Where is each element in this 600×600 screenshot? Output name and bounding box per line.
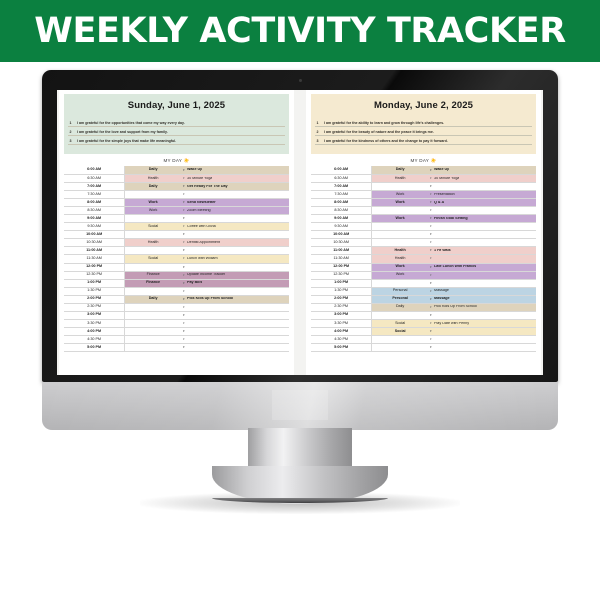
chevron-down-icon[interactable]: ▾ [430, 201, 432, 204]
category-cell[interactable]: Finance [125, 279, 181, 287]
category-cell[interactable]: Daily [125, 183, 181, 191]
time-slot-label: 5:00 PM [64, 343, 125, 351]
chevron-down-icon[interactable]: ▾ [183, 330, 185, 333]
table-row[interactable]: 6:00 AMDaily▾Wake Up [311, 166, 536, 174]
activity-text: Late Lunch with Francis [434, 265, 476, 269]
activity-cell[interactable]: ▾ [428, 335, 536, 343]
time-slot-label: 6:30 AM [311, 175, 372, 183]
table-row[interactable]: 4:00 PM▾ [64, 327, 289, 335]
category-cell[interactable]: Social [125, 223, 181, 231]
table-row[interactable]: 12:00 PMWork▾Late Lunch with Francis [311, 263, 536, 271]
banner-title: WEEKLY ACTIVITY TRACKER [34, 11, 566, 51]
chevron-down-icon[interactable]: ▾ [430, 257, 432, 260]
gratitude-number: 2 [315, 130, 320, 134]
activity-text: Pay Bills [187, 281, 202, 285]
time-slot-label: 9:00 AM [311, 215, 372, 223]
category-cell[interactable] [372, 279, 428, 287]
time-slot-label: 2:30 PM [64, 303, 125, 311]
time-slot-label: 8:00 AM [64, 199, 125, 207]
table-row[interactable]: 2:00 PMPersonal▾Massage [311, 295, 536, 303]
chevron-down-icon[interactable]: ▾ [430, 306, 432, 309]
time-slot-label: 11:30 AM [64, 255, 125, 263]
chevron-down-icon[interactable]: ▾ [430, 225, 432, 228]
activity-cell[interactable]: ▾Update Income Tracker [181, 271, 289, 279]
category-cell[interactable] [125, 215, 181, 223]
time-slot-label: 6:00 AM [311, 166, 372, 174]
chevron-down-icon[interactable]: ▾ [430, 330, 432, 333]
activity-cell[interactable]: ▾1 Hr Walk [428, 247, 536, 255]
time-slot-label: 9:30 AM [311, 223, 372, 231]
time-slot-label: 12:00 PM [64, 263, 125, 271]
chevron-down-icon[interactable]: ▾ [430, 265, 432, 268]
activity-text: Pick Kids Up From School [187, 297, 233, 301]
chevron-down-icon[interactable]: ▾ [183, 169, 185, 172]
time-slot-label: 9:00 AM [64, 215, 125, 223]
page-banner: WEEKLY ACTIVITY TRACKER [0, 0, 600, 62]
category-cell[interactable]: Work [372, 191, 428, 199]
gratitude-entry[interactable]: 3I am grateful for the simple joys that … [68, 139, 285, 145]
gratitude-text[interactable]: I am grateful for the kindness of others… [324, 139, 448, 143]
time-slot-label: 7:00 AM [311, 183, 372, 191]
table-row[interactable]: 11:00 AMHealth▾1 Hr Walk [311, 247, 536, 255]
category-cell[interactable]: Work [372, 199, 428, 207]
activity-text: 30 Minute Yoga [434, 177, 459, 181]
table-row[interactable]: 5:00 PM▾ [311, 343, 536, 351]
time-slot-label: 4:00 PM [64, 327, 125, 335]
time-slot-label: 12:30 PM [311, 271, 372, 279]
schedule-table: 6:00 AMDaily▾Wake Up6:30 AMHealth▾30 Min… [64, 166, 289, 352]
activity-cell[interactable]: ▾ [181, 191, 289, 199]
planner-page-monday: Monday, June 2, 20251I am grateful for t… [306, 90, 541, 375]
activity-text: 1 Hr Walk [434, 249, 451, 253]
monitor-bezel: Sunday, June 1, 20251I am grateful for t… [42, 70, 558, 382]
chevron-down-icon[interactable]: ▾ [430, 241, 432, 244]
table-row[interactable]: 1:00 PMFinance▾Pay Bills [64, 279, 289, 287]
time-slot-label: 1:30 PM [64, 287, 125, 295]
gratitude-entry[interactable]: 1I am grateful for the opportunities tha… [68, 121, 285, 127]
chevron-down-icon[interactable]: ▾ [183, 273, 185, 276]
table-row[interactable]: 1:00 PM▾ [311, 279, 536, 287]
time-slot-label: 10:30 AM [311, 239, 372, 247]
activity-cell[interactable]: ▾ [428, 223, 536, 231]
activity-cell[interactable]: ▾Lunch with William [181, 255, 289, 263]
gratitude-number: 1 [315, 121, 320, 125]
activity-cell[interactable]: ▾Dentist Appointment [181, 239, 289, 247]
activity-cell[interactable]: ▾30 Minute Yoga [181, 175, 289, 183]
table-row[interactable]: 10:30 AM▾ [311, 239, 536, 247]
chevron-down-icon[interactable]: ▾ [183, 298, 185, 301]
category-cell[interactable]: Health [372, 175, 428, 183]
chevron-down-icon[interactable]: ▾ [183, 241, 185, 244]
table-row[interactable]: 7:00 AM▾ [311, 183, 536, 191]
category-cell[interactable] [125, 327, 181, 335]
activity-cell[interactable]: ▾ [428, 231, 536, 239]
gratitude-entry[interactable]: 2I am grateful for the love and support … [68, 130, 285, 136]
table-row[interactable]: 8:00 AMWork▾Send Newsletter [64, 199, 289, 207]
chevron-down-icon[interactable]: ▾ [183, 346, 185, 349]
time-slot-label: 8:00 AM [311, 199, 372, 207]
gratitude-number: 3 [315, 139, 320, 143]
chevron-down-icon[interactable]: ▾ [183, 249, 185, 252]
category-cell[interactable] [372, 311, 428, 319]
activity-cell[interactable]: ▾ [428, 327, 536, 335]
time-slot-label: 1:00 PM [64, 279, 125, 287]
chevron-down-icon[interactable]: ▾ [183, 281, 185, 284]
chevron-down-icon[interactable]: ▾ [430, 298, 432, 301]
category-cell[interactable]: Social [372, 327, 428, 335]
table-row[interactable]: 10:00 AM▾ [311, 231, 536, 239]
table-row[interactable]: 11:30 AMSocial▾Lunch with William [64, 255, 289, 263]
planner-page-sunday: Sunday, June 1, 20251I am grateful for t… [59, 90, 294, 375]
gratitude-text[interactable]: I am grateful for the love and support f… [77, 130, 168, 134]
day-title: Sunday, June 1, 2025 [64, 94, 289, 116]
time-slot-label: 3:00 PM [311, 311, 372, 319]
activity-text: Q & A [434, 201, 444, 205]
gratitude-text[interactable]: I am grateful for the beauty of nature a… [324, 130, 434, 134]
table-row[interactable]: 3:30 PM▾ [64, 319, 289, 327]
gratitude-text[interactable]: I am grateful for the ability to learn a… [324, 121, 444, 125]
time-slot-label: 2:30 PM [311, 303, 372, 311]
gratitude-section: 1I am grateful for the ability to learn … [311, 116, 536, 154]
chevron-down-icon[interactable]: ▾ [183, 314, 185, 317]
chevron-down-icon[interactable]: ▾ [430, 169, 432, 172]
activity-cell[interactable]: ▾Massage [428, 295, 536, 303]
category-cell[interactable] [125, 311, 181, 319]
time-slot-label: 12:30 PM [64, 271, 125, 279]
activity-cell[interactable]: ▾Pay Bills [181, 279, 289, 287]
chevron-down-icon[interactable]: ▾ [183, 322, 185, 325]
category-cell[interactable] [372, 343, 428, 351]
desktop-monitor-mockup: Sunday, June 1, 20251I am grateful for t… [0, 62, 600, 600]
activity-text: Finish Goal Setting [434, 217, 468, 221]
category-cell[interactable]: Personal [372, 295, 428, 303]
activity-cell[interactable]: ▾Wake Up [181, 166, 289, 174]
activity-text: Wake Up [434, 168, 449, 172]
table-row[interactable]: 4:00 PMSocial▾ [311, 327, 536, 335]
category-cell[interactable] [372, 231, 428, 239]
activity-cell[interactable]: ▾Q & A [428, 199, 536, 207]
activity-cell[interactable]: ▾Coffee with Olivia [181, 223, 289, 231]
activity-cell[interactable]: ▾Presentation [428, 191, 536, 199]
time-slot-label: 9:30 AM [64, 223, 125, 231]
activity-cell[interactable]: ▾ [181, 263, 289, 271]
activity-text: Massage [434, 297, 450, 301]
activity-cell[interactable]: ▾ [428, 183, 536, 191]
time-slot-label: 7:30 AM [64, 191, 125, 199]
sun-icon: ☀️ [429, 158, 437, 163]
table-row[interactable]: 12:30 PMWork▾ [311, 271, 536, 279]
table-row[interactable]: 9:30 AM▾ [311, 223, 536, 231]
chevron-down-icon[interactable]: ▾ [183, 177, 185, 180]
time-slot-label: 4:30 PM [311, 335, 372, 343]
category-cell[interactable] [372, 335, 428, 343]
activity-cell[interactable]: ▾ [181, 231, 289, 239]
time-slot-label: 4:00 PM [311, 327, 372, 335]
schedule-header-label: MY DAY [410, 158, 429, 163]
gratitude-text[interactable]: I am grateful for the opportunities that… [77, 121, 185, 125]
category-cell[interactable] [372, 239, 428, 247]
activity-cell[interactable]: ▾ [428, 239, 536, 247]
category-cell[interactable] [125, 247, 181, 255]
time-slot-label: 4:30 PM [64, 335, 125, 343]
activity-cell[interactable]: ▾Play Date with Penny [428, 319, 536, 327]
time-slot-label: 7:30 AM [311, 191, 372, 199]
chevron-down-icon[interactable]: ▾ [430, 233, 432, 236]
schedule-section-header: MY DAY ☀️ [64, 154, 289, 167]
schedule-section-header: MY DAY ☀️ [311, 154, 536, 167]
activity-cell[interactable]: ▾Massage [428, 287, 536, 295]
monitor-chin [42, 382, 558, 430]
time-slot-label: 8:30 AM [311, 207, 372, 215]
activity-text: Presentation [434, 193, 455, 197]
activity-text: Coffee with Olivia [187, 225, 216, 229]
table-row[interactable]: 12:30 PMFinance▾Update Income Tracker [64, 271, 289, 279]
time-slot-label: 6:00 AM [64, 166, 125, 174]
gratitude-text[interactable]: I am grateful for the simple joys that m… [77, 139, 176, 143]
table-row[interactable]: 1:30 PM▾ [64, 287, 289, 295]
chevron-down-icon[interactable]: ▾ [183, 289, 185, 292]
activity-cell[interactable]: ▾Get Ready For The Day [181, 183, 289, 191]
gratitude-entry[interactable]: 2I am grateful for the beauty of nature … [315, 130, 532, 136]
chevron-down-icon[interactable]: ▾ [183, 338, 185, 341]
time-slot-label: 1:30 PM [311, 287, 372, 295]
category-cell[interactable]: Personal [372, 287, 428, 295]
chevron-down-icon[interactable]: ▾ [430, 322, 432, 325]
chevron-down-icon[interactable]: ▾ [430, 217, 432, 220]
gratitude-entry[interactable]: 3I am grateful for the kindness of other… [315, 139, 532, 145]
table-row[interactable]: 3:00 PM▾ [311, 311, 536, 319]
time-slot-label: 6:30 AM [64, 175, 125, 183]
time-slot-label: 10:30 AM [64, 239, 125, 247]
chevron-down-icon[interactable]: ▾ [430, 273, 432, 276]
activity-cell[interactable]: ▾ [181, 311, 289, 319]
table-row[interactable]: 7:30 AMWork▾Presentation [311, 191, 536, 199]
chevron-down-icon[interactable]: ▾ [183, 225, 185, 228]
table-row[interactable]: 8:00 AMWork▾Q & A [311, 199, 536, 207]
sun-icon: ☀️ [182, 158, 190, 163]
chevron-down-icon[interactable]: ▾ [183, 193, 185, 196]
activity-text: Get Ready For The Day [187, 185, 228, 189]
gratitude-number: 3 [68, 139, 73, 143]
chevron-down-icon[interactable]: ▾ [430, 249, 432, 252]
table-row[interactable]: 6:30 AMHealth▾30 Minute Yoga [64, 175, 289, 183]
category-cell[interactable]: Health [372, 247, 428, 255]
activity-cell[interactable]: ▾ [181, 303, 289, 311]
activity-cell[interactable]: ▾30 Minute Yoga [428, 175, 536, 183]
table-row[interactable]: 10:00 AM▾ [64, 231, 289, 239]
activity-text: Zoom Meeting [187, 209, 211, 213]
category-cell[interactable]: Daily [372, 303, 428, 311]
table-row[interactable]: 12:00 PM▾ [64, 263, 289, 271]
activity-text: Send Newsletter [187, 201, 216, 205]
category-cell[interactable]: Work [372, 215, 428, 223]
activity-cell[interactable]: ▾ [181, 319, 289, 327]
category-cell[interactable] [125, 191, 181, 199]
time-slot-label: 2:00 PM [64, 295, 125, 303]
schedule-header-label: MY DAY [163, 158, 182, 163]
webcam-icon [299, 79, 302, 82]
category-cell[interactable] [125, 263, 181, 271]
category-cell[interactable] [372, 183, 428, 191]
time-slot-label: 11:00 AM [311, 247, 372, 255]
table-row[interactable]: 10:30 AMHealth▾Dentist Appointment [64, 239, 289, 247]
activity-text: Lunch with William [187, 257, 218, 261]
activity-cell[interactable]: ▾ [428, 255, 536, 263]
category-cell[interactable]: Daily [372, 166, 428, 174]
category-cell[interactable]: Social [372, 319, 428, 327]
monitor-screen: Sunday, June 1, 20251I am grateful for t… [57, 90, 543, 375]
gratitude-number: 1 [68, 121, 73, 125]
chevron-down-icon[interactable]: ▾ [183, 201, 185, 204]
schedule-table: 6:00 AMDaily▾Wake Up6:30 AMHealth▾30 Min… [311, 166, 536, 352]
activity-text: Update Income Tracker [187, 273, 225, 277]
activity-text: Dentist Appointment [187, 241, 220, 245]
activity-cell[interactable]: ▾Pick Kids Up From School [428, 303, 536, 311]
activity-cell[interactable]: ▾ [428, 311, 536, 319]
table-row[interactable]: 9:00 AMWork▾Finish Goal Setting [311, 215, 536, 223]
activity-cell[interactable]: ▾ [428, 207, 536, 215]
category-cell[interactable] [372, 223, 428, 231]
category-cell[interactable]: Daily [125, 166, 181, 174]
table-row[interactable]: 9:30 AMSocial▾Coffee with Olivia [64, 223, 289, 231]
category-cell[interactable] [125, 343, 181, 351]
time-slot-label: 11:00 AM [64, 247, 125, 255]
activity-cell[interactable]: ▾ [181, 335, 289, 343]
chevron-down-icon[interactable]: ▾ [183, 306, 185, 309]
chevron-down-icon[interactable]: ▾ [183, 217, 185, 220]
time-slot-label: 8:30 AM [64, 207, 125, 215]
table-row[interactable]: 7:00 AMDaily▾Get Ready For The Day [64, 183, 289, 191]
category-cell[interactable] [125, 335, 181, 343]
activity-text: Play Date with Penny [434, 322, 469, 326]
time-slot-label: 11:30 AM [311, 255, 372, 263]
table-row[interactable]: 2:30 PM▾ [64, 303, 289, 311]
day-title: Monday, June 2, 2025 [311, 94, 536, 116]
table-row[interactable]: 9:00 AM▾ [64, 215, 289, 223]
chevron-down-icon[interactable]: ▾ [430, 209, 432, 212]
chevron-down-icon[interactable]: ▾ [430, 177, 432, 180]
chevron-down-icon[interactable]: ▾ [430, 193, 432, 196]
activity-text: Wake Up [187, 168, 202, 172]
category-cell[interactable]: Daily [125, 295, 181, 303]
activity-cell[interactable]: ▾Send Newsletter [181, 199, 289, 207]
gratitude-section: 1I am grateful for the opportunities tha… [64, 116, 289, 154]
activity-text: Massage [434, 289, 449, 293]
category-cell[interactable] [125, 303, 181, 311]
category-cell[interactable] [125, 319, 181, 327]
table-row[interactable]: 1:30 PMPersonal▾Massage [311, 287, 536, 295]
time-slot-label: 12:00 PM [311, 263, 372, 271]
activity-cell[interactable]: ▾ [428, 271, 536, 279]
chevron-down-icon[interactable]: ▾ [430, 338, 432, 341]
category-cell[interactable] [125, 287, 181, 295]
chevron-down-icon[interactable]: ▾ [430, 314, 432, 317]
time-slot-label: 10:00 AM [64, 231, 125, 239]
table-row[interactable]: 4:30 PM▾ [311, 335, 536, 343]
activity-cell[interactable]: ▾ [181, 287, 289, 295]
chevron-down-icon[interactable]: ▾ [183, 257, 185, 260]
category-cell[interactable]: Work [125, 199, 181, 207]
category-cell[interactable] [372, 207, 428, 215]
table-row[interactable]: 11:30 AMHealth▾ [311, 255, 536, 263]
category-cell[interactable]: Work [125, 207, 181, 215]
table-row[interactable]: 5:00 PM▾ [64, 343, 289, 351]
activity-cell[interactable]: ▾ [428, 343, 536, 351]
table-row[interactable]: 6:30 AMHealth▾30 Minute Yoga [311, 175, 536, 183]
category-cell[interactable]: Health [125, 175, 181, 183]
chevron-down-icon[interactable]: ▾ [430, 346, 432, 349]
category-cell[interactable]: Health [125, 239, 181, 247]
category-cell[interactable]: Work [372, 263, 428, 271]
table-row[interactable]: 4:30 PM▾ [64, 335, 289, 343]
chevron-down-icon[interactable]: ▾ [430, 281, 432, 284]
chevron-down-icon[interactable]: ▾ [183, 233, 185, 236]
chevron-down-icon[interactable]: ▾ [183, 185, 185, 188]
chin-sheen [42, 382, 558, 430]
time-slot-label: 2:00 PM [311, 295, 372, 303]
time-slot-label: 5:00 PM [311, 343, 372, 351]
table-row[interactable]: 6:00 AMDaily▾Wake Up [64, 166, 289, 174]
category-cell[interactable]: Finance [125, 271, 181, 279]
category-cell[interactable] [125, 231, 181, 239]
time-slot-label: 1:00 PM [311, 279, 372, 287]
table-row[interactable]: 7:30 AM▾ [64, 191, 289, 199]
gratitude-entry[interactable]: 1I am grateful for the ability to learn … [315, 121, 532, 127]
table-row[interactable]: 2:30 PMDaily▾Pick Kids Up From School [311, 303, 536, 311]
chevron-down-icon[interactable]: ▾ [430, 185, 432, 188]
category-cell[interactable]: Work [372, 271, 428, 279]
chevron-down-icon[interactable]: ▾ [183, 209, 185, 212]
activity-text: Pick Kids Up From School [434, 305, 477, 309]
time-slot-label: 3:30 PM [64, 319, 125, 327]
activity-cell[interactable]: ▾ [181, 343, 289, 351]
activity-cell[interactable]: ▾ [181, 247, 289, 255]
time-slot-label: 3:30 PM [311, 319, 372, 327]
table-row[interactable]: 3:30 PMSocial▾Play Date with Penny [311, 319, 536, 327]
chevron-down-icon[interactable]: ▾ [183, 265, 185, 268]
activity-cell[interactable]: ▾Late Lunch with Francis [428, 263, 536, 271]
activity-cell[interactable]: ▾Pick Kids Up From School [181, 295, 289, 303]
activity-cell[interactable]: ▾ [428, 279, 536, 287]
table-row[interactable]: 8:30 AMWork▾Zoom Meeting [64, 207, 289, 215]
activity-cell[interactable]: ▾Finish Goal Setting [428, 215, 536, 223]
gratitude-number: 2 [68, 130, 73, 134]
table-row[interactable]: 11:00 AM▾ [64, 247, 289, 255]
table-row[interactable]: 3:00 PM▾ [64, 311, 289, 319]
activity-cell[interactable]: ▾ [181, 327, 289, 335]
table-row[interactable]: 2:00 PMDaily▾Pick Kids Up From School [64, 295, 289, 303]
category-cell[interactable]: Health [372, 255, 428, 263]
chevron-down-icon[interactable]: ▾ [430, 289, 432, 292]
activity-cell[interactable]: ▾Wake Up [428, 166, 536, 174]
activity-cell[interactable]: ▾Zoom Meeting [181, 207, 289, 215]
activity-cell[interactable]: ▾ [181, 215, 289, 223]
table-row[interactable]: 8:30 AM▾ [311, 207, 536, 215]
time-slot-label: 10:00 AM [311, 231, 372, 239]
category-cell[interactable]: Social [125, 255, 181, 263]
time-slot-label: 3:00 PM [64, 311, 125, 319]
activity-text: 30 Minute Yoga [187, 177, 212, 181]
time-slot-label: 7:00 AM [64, 183, 125, 191]
